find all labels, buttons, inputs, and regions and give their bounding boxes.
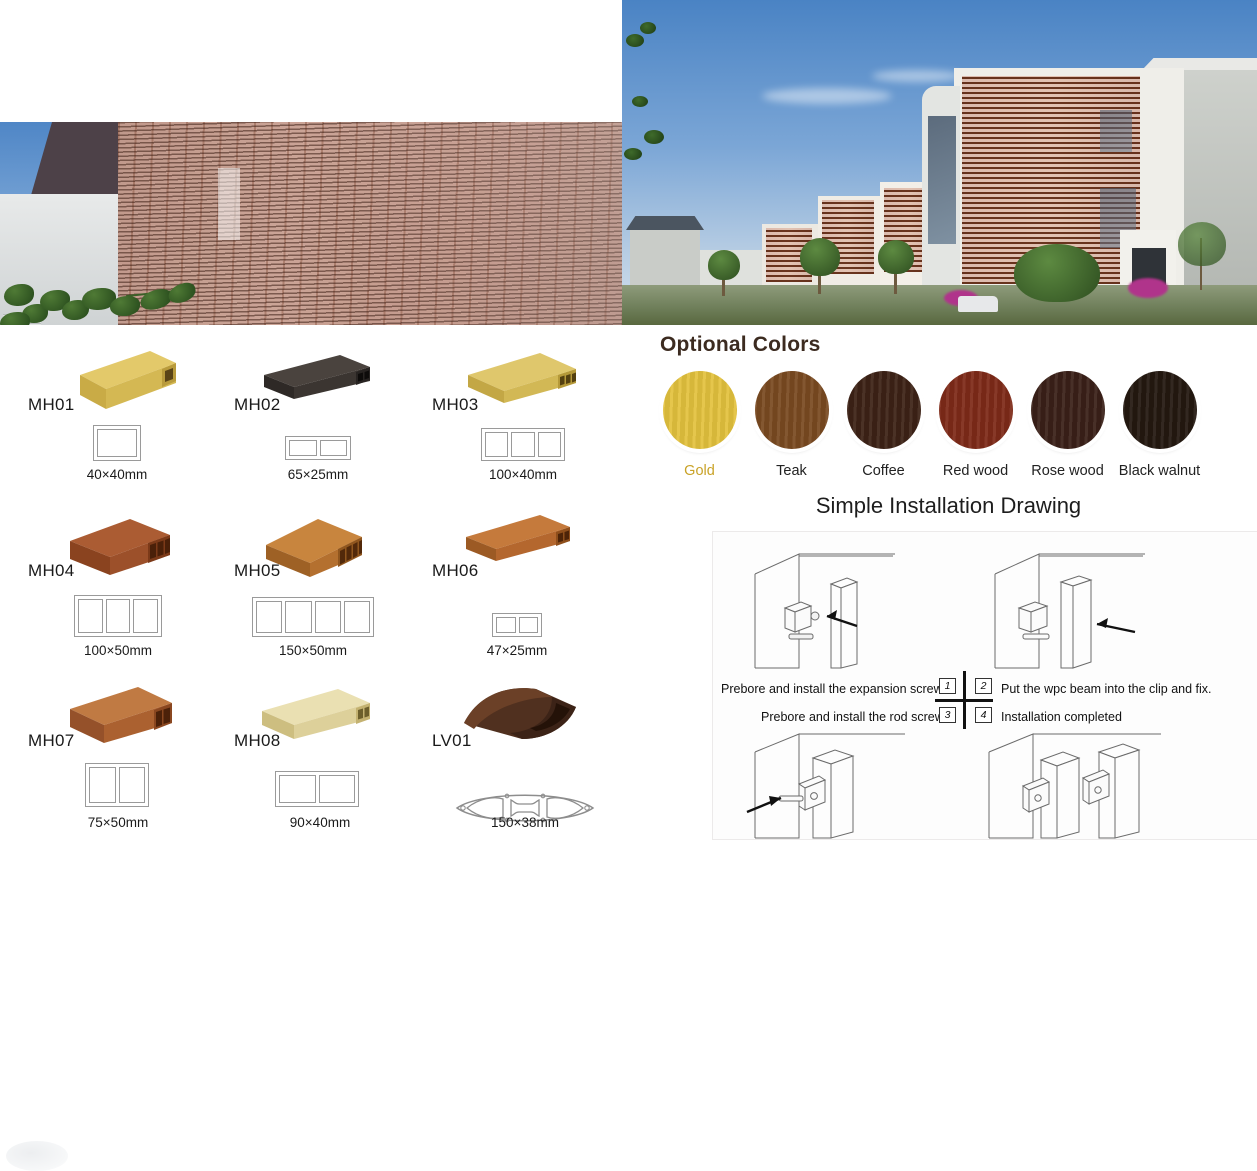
cross-section-mh02 (285, 436, 351, 460)
cross-section-mh06 (492, 613, 542, 637)
color-swatch-black-walnut[interactable]: Black walnut (1118, 371, 1201, 479)
section-cell (519, 617, 539, 633)
cross-section-mh04 (74, 595, 162, 637)
background-roof (626, 216, 704, 230)
wood-grain (847, 371, 921, 449)
wood-grain (1031, 371, 1105, 449)
watermark-blob (6, 1141, 68, 1171)
section-cell (496, 617, 516, 633)
swatch-label: Rose wood (1026, 463, 1109, 479)
product-code: MH03 (432, 395, 479, 415)
product-code: MH08 (234, 731, 281, 751)
tree-canopy (800, 238, 840, 276)
color-swatch-gold[interactable]: Gold (658, 371, 741, 479)
cross-section-mh08 (275, 771, 359, 807)
cross-section-mh07 (85, 763, 149, 807)
swatch-circle (755, 371, 829, 449)
product-code: MH02 (234, 395, 281, 415)
wood-grain (663, 371, 737, 449)
beam-3d-mh07 (66, 683, 182, 757)
section-cell (538, 432, 561, 457)
install-caption-2: Put the wpc beam into the clip and fix. (1001, 682, 1212, 696)
parked-car (958, 296, 998, 312)
leaf (644, 130, 664, 144)
swatch-label: Black walnut (1118, 463, 1201, 479)
installation-title: Simple Installation Drawing (640, 493, 1257, 519)
install-step-3-drawing (735, 728, 925, 840)
section-cell (344, 601, 370, 633)
section-cell (97, 429, 137, 457)
shrub (1014, 244, 1100, 302)
right-column: Optional Colors Gold Teak Coffee Red woo… (640, 325, 1257, 859)
flowering-bush (1128, 278, 1168, 298)
screen-window (1100, 110, 1132, 152)
photo-louver-facade (0, 122, 630, 325)
photo-band (0, 0, 1257, 325)
product-code: MH07 (28, 731, 75, 751)
section-cell (119, 767, 146, 803)
swatch-circle (1031, 371, 1105, 449)
install-caption-4: Installation completed (1001, 710, 1122, 724)
section-cell (133, 599, 158, 633)
section-cell (285, 601, 311, 633)
section-cell (106, 599, 131, 633)
product-code: MH05 (234, 561, 281, 581)
product-dimension: 40×40mm (74, 467, 160, 482)
install-step-number-2: 2 (975, 678, 992, 694)
section-cell (78, 599, 103, 633)
section-cell (319, 775, 356, 803)
section-cell (485, 432, 508, 457)
product-dimension: 100×40mm (478, 467, 568, 482)
install-step-number-3: 3 (939, 707, 956, 723)
cloud (872, 70, 962, 82)
swatch-label: Teak (750, 463, 833, 479)
product-dimension: 150×38mm (478, 815, 572, 830)
sapling-canopy (1178, 222, 1226, 266)
beam-3d-mh03 (462, 351, 588, 417)
install-step-number-1: 1 (939, 678, 956, 694)
section-cell (89, 767, 116, 803)
section-cell (256, 601, 282, 633)
wood-grain (755, 371, 829, 449)
product-code: MH04 (28, 561, 75, 581)
cross-section-mh05 (252, 597, 374, 637)
install-step-1-drawing (735, 546, 915, 671)
beam-3d-lv01 (460, 683, 588, 757)
product-code: LV01 (432, 731, 472, 751)
beam-3d-mh04 (64, 513, 184, 589)
install-step-4-drawing (975, 728, 1175, 840)
section-cell (315, 601, 341, 633)
swatch-label: Gold (658, 463, 741, 479)
cloud (762, 88, 892, 104)
wood-grain (939, 371, 1013, 449)
curtain-wall (928, 116, 956, 244)
product-dimension: 90×40mm (275, 815, 365, 830)
swatch-circle (847, 371, 921, 449)
leaf (626, 34, 644, 47)
leaf (624, 148, 642, 160)
swatch-circle (939, 371, 1013, 449)
product-dimension: 75×50mm (73, 815, 163, 830)
tree-canopy (708, 250, 740, 280)
swatch-label: Red wood (934, 463, 1017, 479)
cross-section-mh01 (93, 425, 141, 461)
divider-horizontal (935, 699, 993, 702)
color-swatch-rose-wood[interactable]: Rose wood (1026, 371, 1109, 479)
install-caption-1: Prebore and install the expansion screw. (721, 682, 945, 696)
swatch-label: Coffee (842, 463, 925, 479)
color-swatch-teak[interactable]: Teak (750, 371, 833, 479)
product-code: MH06 (432, 561, 479, 581)
product-dimension: 150×50mm (268, 643, 358, 658)
swatch-circle (663, 371, 737, 449)
product-grid: MH01 40×40mm MH02 65×25mm (0, 325, 640, 859)
product-code: MH01 (28, 395, 75, 415)
install-caption-3: Prebore and install the rod screw. (761, 710, 947, 724)
background-building (630, 228, 700, 288)
louver-highlight (118, 122, 630, 325)
swatch-circle (1123, 371, 1197, 449)
color-swatch-coffee[interactable]: Coffee (842, 371, 925, 479)
section-cell (511, 432, 534, 457)
install-step-2-drawing (975, 546, 1165, 671)
spec-sheet: MH01 40×40mm MH02 65×25mm (0, 325, 1257, 859)
section-cell (279, 775, 316, 803)
color-swatch-red-wood[interactable]: Red wood (934, 371, 1017, 479)
facade-window (218, 168, 240, 240)
beam-3d-mh06 (462, 513, 578, 585)
photo-campus-facade (622, 0, 1257, 325)
product-dimension: 100×50mm (73, 643, 163, 658)
tree-canopy (878, 240, 914, 274)
install-step-number-4: 4 (975, 707, 992, 723)
product-dimension: 47×25mm (472, 643, 562, 658)
optional-colors-title: Optional Colors (660, 333, 821, 357)
section-cell (320, 440, 348, 456)
cross-section-mh03 (481, 428, 565, 461)
installation-diagram-panel: Prebore and install the expansion screw.… (712, 531, 1257, 840)
section-cell (289, 440, 317, 456)
beam-3d-mh01 (72, 347, 182, 417)
leaf (632, 96, 648, 107)
leaf (640, 22, 656, 34)
wood-grain (1123, 371, 1197, 449)
product-dimension: 65×25mm (275, 467, 361, 482)
